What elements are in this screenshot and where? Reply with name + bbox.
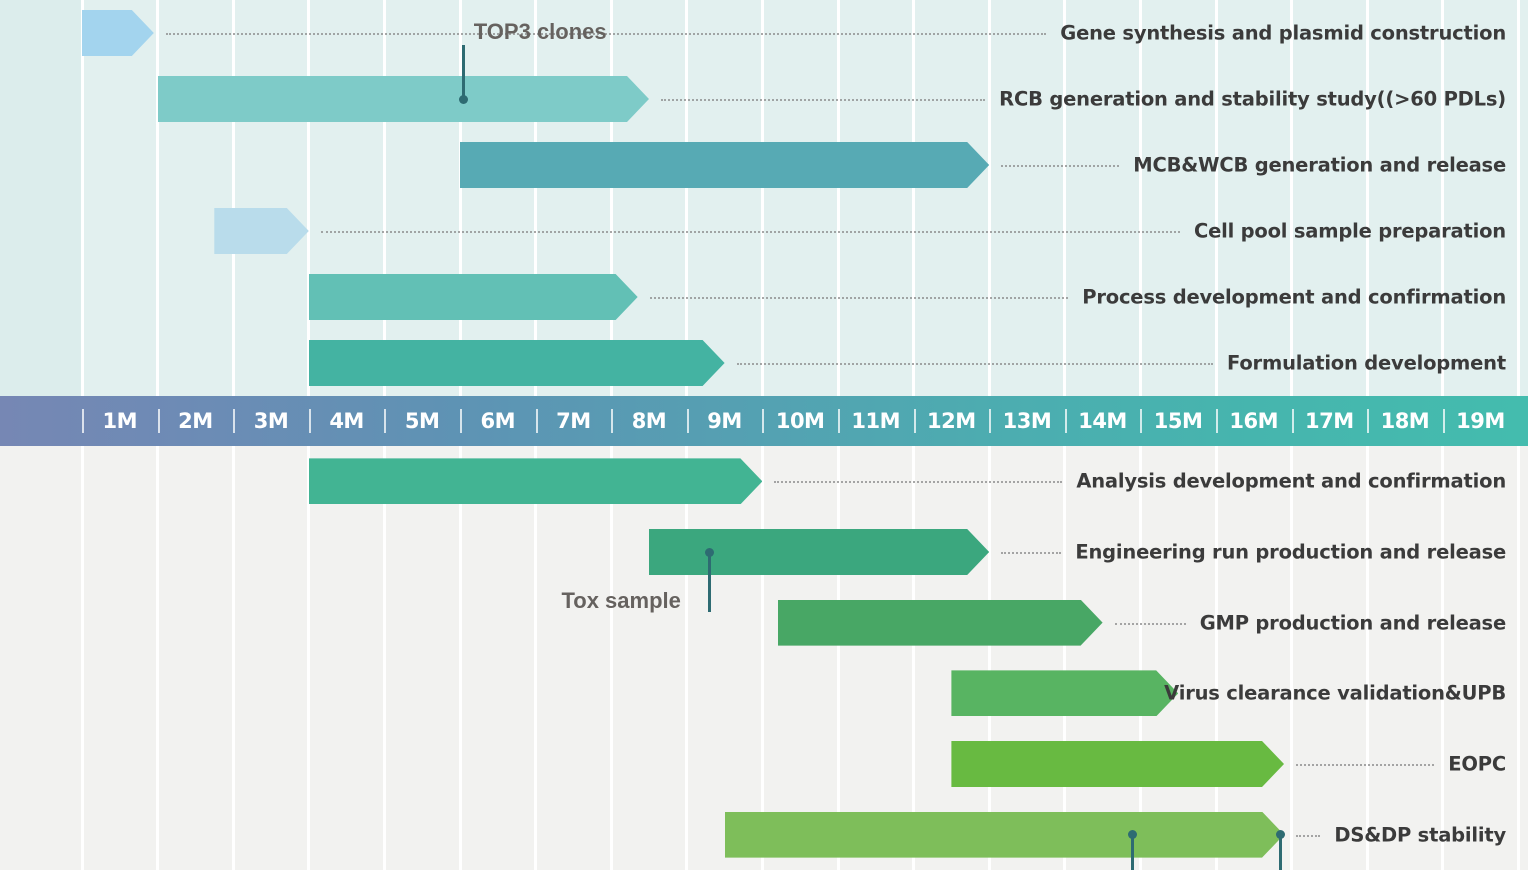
- axis-tick-18m: 18M: [1367, 396, 1443, 446]
- leader-line: [1001, 552, 1061, 554]
- axis-tick-17m: 17M: [1292, 396, 1368, 446]
- axis-tick-11m: 11M: [838, 396, 914, 446]
- task-label: Formulation development: [1227, 352, 1506, 375]
- task-row: Process development and confirmation: [0, 264, 1528, 330]
- task-bar[interactable]: [649, 529, 989, 575]
- task-bar-fill: [951, 670, 1178, 716]
- annotation-stem: [462, 45, 465, 99]
- task-bar-fill: [309, 340, 725, 386]
- task-row: Engineering run production and release: [0, 517, 1528, 588]
- milestone-stem: [1131, 835, 1134, 870]
- task-row: Formulation development: [0, 330, 1528, 396]
- annotation-label: TOP3 clones: [474, 19, 607, 45]
- task-bar[interactable]: [725, 812, 1284, 858]
- task-bar-fill: [649, 529, 989, 575]
- axis-tick-5m: 5M: [384, 396, 460, 446]
- leader-line: [661, 99, 985, 101]
- axis-tick-16m: 16M: [1216, 396, 1292, 446]
- timeline-axis: 1M2M3M4M5M6M7M8M9M10M11M12M13M14M15M16M1…: [0, 396, 1528, 446]
- axis-left-spacer: [0, 396, 82, 446]
- task-row: Virus clearance validation&UPB: [0, 658, 1528, 729]
- task-bar-fill: [951, 741, 1284, 787]
- task-bar[interactable]: [460, 142, 989, 188]
- task-row: Gene synthesis and plasmid construction: [0, 0, 1528, 66]
- task-row: Cell pool sample preparation: [0, 198, 1528, 264]
- task-label: Gene synthesis and plasmid construction: [1060, 22, 1506, 45]
- milestone-dot: [1276, 830, 1285, 839]
- task-row: DS&DP stability: [0, 799, 1528, 870]
- task-bar-fill: [309, 274, 638, 320]
- task-bar[interactable]: [309, 458, 763, 504]
- task-bar-fill: [82, 10, 154, 56]
- axis-tick-9m: 9M: [687, 396, 763, 446]
- axis-tick-4m: 4M: [309, 396, 385, 446]
- leader-line: [1115, 623, 1186, 625]
- task-label: Cell pool sample preparation: [1194, 220, 1506, 243]
- leader-line: [1296, 764, 1434, 766]
- axis-tick-10m: 10M: [762, 396, 838, 446]
- milestone-stem: [1279, 835, 1282, 870]
- task-bar[interactable]: [951, 670, 1178, 716]
- annotation-stem: [708, 552, 711, 612]
- task-bar[interactable]: [309, 340, 725, 386]
- task-label: Analysis development and confirmation: [1076, 470, 1506, 493]
- task-label: GMP production and release: [1200, 611, 1506, 634]
- task-row: RCB generation and stability study((>60 …: [0, 66, 1528, 132]
- axis-tick-8m: 8M: [611, 396, 687, 446]
- task-row: GMP production and release: [0, 587, 1528, 658]
- annotation-dot: [705, 548, 714, 557]
- task-bar[interactable]: [158, 76, 649, 122]
- task-bar[interactable]: [309, 274, 638, 320]
- task-row: Analysis development and confirmation: [0, 446, 1528, 517]
- leader-line: [1001, 165, 1119, 167]
- task-label: DS&DP stability: [1334, 823, 1506, 846]
- task-bar-fill: [158, 76, 649, 122]
- gantt-chart: Gene synthesis and plasmid constructionR…: [0, 0, 1528, 870]
- task-label: Virus clearance validation&UPB: [1164, 682, 1506, 705]
- task-row: MCB&WCB generation and release: [0, 132, 1528, 198]
- axis-tick-15m: 15M: [1140, 396, 1216, 446]
- task-label: Process development and confirmation: [1082, 286, 1506, 309]
- leader-line: [321, 231, 1180, 233]
- leader-line: [737, 363, 1213, 365]
- axis-tick-19m: 19M: [1443, 396, 1519, 446]
- task-bar-fill: [309, 458, 763, 504]
- task-label: EOPC: [1448, 752, 1506, 775]
- axis-tick-7m: 7M: [536, 396, 612, 446]
- task-bar-fill: [460, 142, 989, 188]
- axis-tick-12m: 12M: [914, 396, 990, 446]
- task-bar-fill: [725, 812, 1284, 858]
- axis-tick-14m: 14M: [1065, 396, 1141, 446]
- task-label: RCB generation and stability study((>60 …: [999, 88, 1506, 111]
- task-bar-fill: [214, 208, 309, 254]
- annotation-label: Tox sample: [561, 588, 680, 614]
- axis-tick-1m: 1M: [82, 396, 158, 446]
- axis-tick-13m: 13M: [989, 396, 1065, 446]
- leader-line: [650, 297, 1069, 299]
- task-row: EOPC: [0, 729, 1528, 800]
- task-bar[interactable]: [778, 600, 1103, 646]
- task-label: MCB&WCB generation and release: [1133, 154, 1506, 177]
- leader-line: [774, 481, 1062, 483]
- axis-tick-3m: 3M: [233, 396, 309, 446]
- task-bar[interactable]: [214, 208, 309, 254]
- annotation-dot: [459, 95, 468, 104]
- task-label: Engineering run production and release: [1075, 540, 1506, 563]
- task-bar[interactable]: [82, 10, 154, 56]
- task-bar[interactable]: [951, 741, 1284, 787]
- leader-line: [1296, 835, 1320, 837]
- axis-tick-2m: 2M: [158, 396, 234, 446]
- task-bar-fill: [778, 600, 1103, 646]
- axis-tick-6m: 6M: [460, 396, 536, 446]
